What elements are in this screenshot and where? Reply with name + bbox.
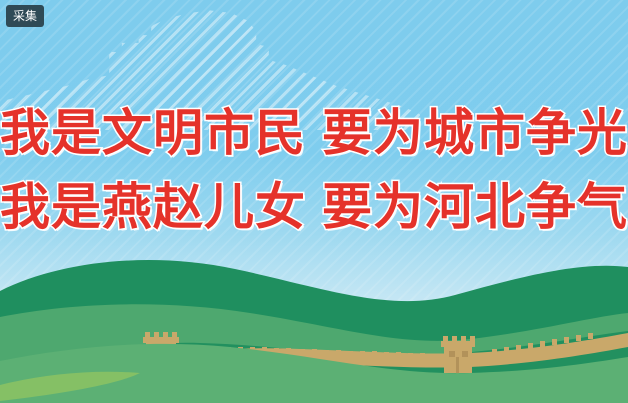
green-hills-illustration [0,243,628,403]
great-wall-tower-right [441,336,475,377]
slogan-text-block: 我是文明市民 要为城市争光 我是燕赵儿女 要为河北争气 [0,96,628,244]
slogan-line-2-right: 要为河北争气 [322,170,628,244]
capture-button[interactable]: 采集 [6,5,44,27]
slogan-line-2: 我是燕赵儿女 要为河北争气 [0,170,628,244]
slogan-line-2-left: 我是燕赵儿女 [0,170,306,244]
slogan-line-1-right: 要为城市争光 [322,96,628,170]
slogan-line-1: 我是文明市民 要为城市争光 [0,96,628,170]
slogan-line-1-left: 我是文明市民 [0,96,306,170]
poster-image: 我是文明市民 要为城市争光 我是燕赵儿女 要为河北争气 采集 [0,0,628,403]
